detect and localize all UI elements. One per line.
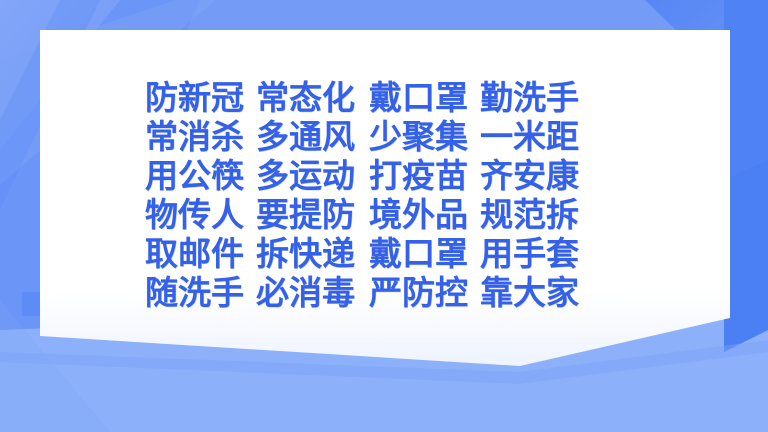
slogan-right-2-second: 一米距 [480, 117, 579, 156]
slogan-left-5-second: 拆快递 [256, 234, 355, 273]
slogan-left-1-second: 常态化 [256, 78, 355, 117]
slogan-left-4-second: 要提防 [256, 195, 355, 234]
slogan-right-4-first: 境外品 [369, 195, 468, 234]
slogan-right-6: 严防控靠大家 [367, 273, 625, 312]
slogan-left-3: 用公筷多运动 [145, 156, 367, 195]
slogan-left-6-first: 随洗手 [145, 273, 244, 312]
slogan-right-3-first: 打疫苗 [369, 156, 468, 195]
slogan-left-2: 常消杀多通风 [145, 117, 367, 156]
slogan-left-2-second: 多通风 [256, 117, 355, 156]
slogan-left-3-second: 多运动 [256, 156, 355, 195]
slogan-right-2: 少聚集一米距 [367, 117, 625, 156]
slogan-right-4: 境外品规范拆 [367, 195, 625, 234]
poster-root: 防新冠常态化 戴口罩勤洗手 常消杀多通风 少聚集一米距 用公筷多运动 打疫苗齐安… [0, 0, 768, 432]
slogan-left-4-first: 物传人 [145, 195, 244, 234]
slogan-left-2-first: 常消杀 [145, 117, 244, 156]
slogan-left-1: 防新冠常态化 [145, 78, 367, 117]
slogan-right-2-first: 少聚集 [369, 117, 468, 156]
slogan-left-1-first: 防新冠 [145, 78, 244, 117]
slogan-right-3-second: 齐安康 [480, 156, 579, 195]
slogan-left-6-second: 必消毒 [256, 273, 355, 312]
slogan-left-4: 物传人要提防 [145, 195, 367, 234]
slogan-left-5-first: 取邮件 [145, 234, 244, 273]
slogan-right-5: 戴口罩用手套 [367, 234, 625, 273]
slogan-right-1-second: 勤洗手 [480, 78, 579, 117]
slogan-left-5: 取邮件拆快递 [145, 234, 367, 273]
slogan-right-6-first: 严防控 [369, 273, 468, 312]
slogan-right-1: 戴口罩勤洗手 [367, 78, 625, 117]
slogan-right-5-second: 用手套 [480, 234, 579, 273]
slogan-left-6: 随洗手必消毒 [145, 273, 367, 312]
slogan-right-5-first: 戴口罩 [369, 234, 468, 273]
slogan-left-3-first: 用公筷 [145, 156, 244, 195]
slogan-right-3: 打疫苗齐安康 [367, 156, 625, 195]
slogan-right-6-second: 靠大家 [480, 273, 579, 312]
slogan-right-4-second: 规范拆 [480, 195, 579, 234]
slogan-right-1-first: 戴口罩 [369, 78, 468, 117]
slogan-grid: 防新冠常态化 戴口罩勤洗手 常消杀多通风 少聚集一米距 用公筷多运动 打疫苗齐安… [145, 78, 645, 312]
